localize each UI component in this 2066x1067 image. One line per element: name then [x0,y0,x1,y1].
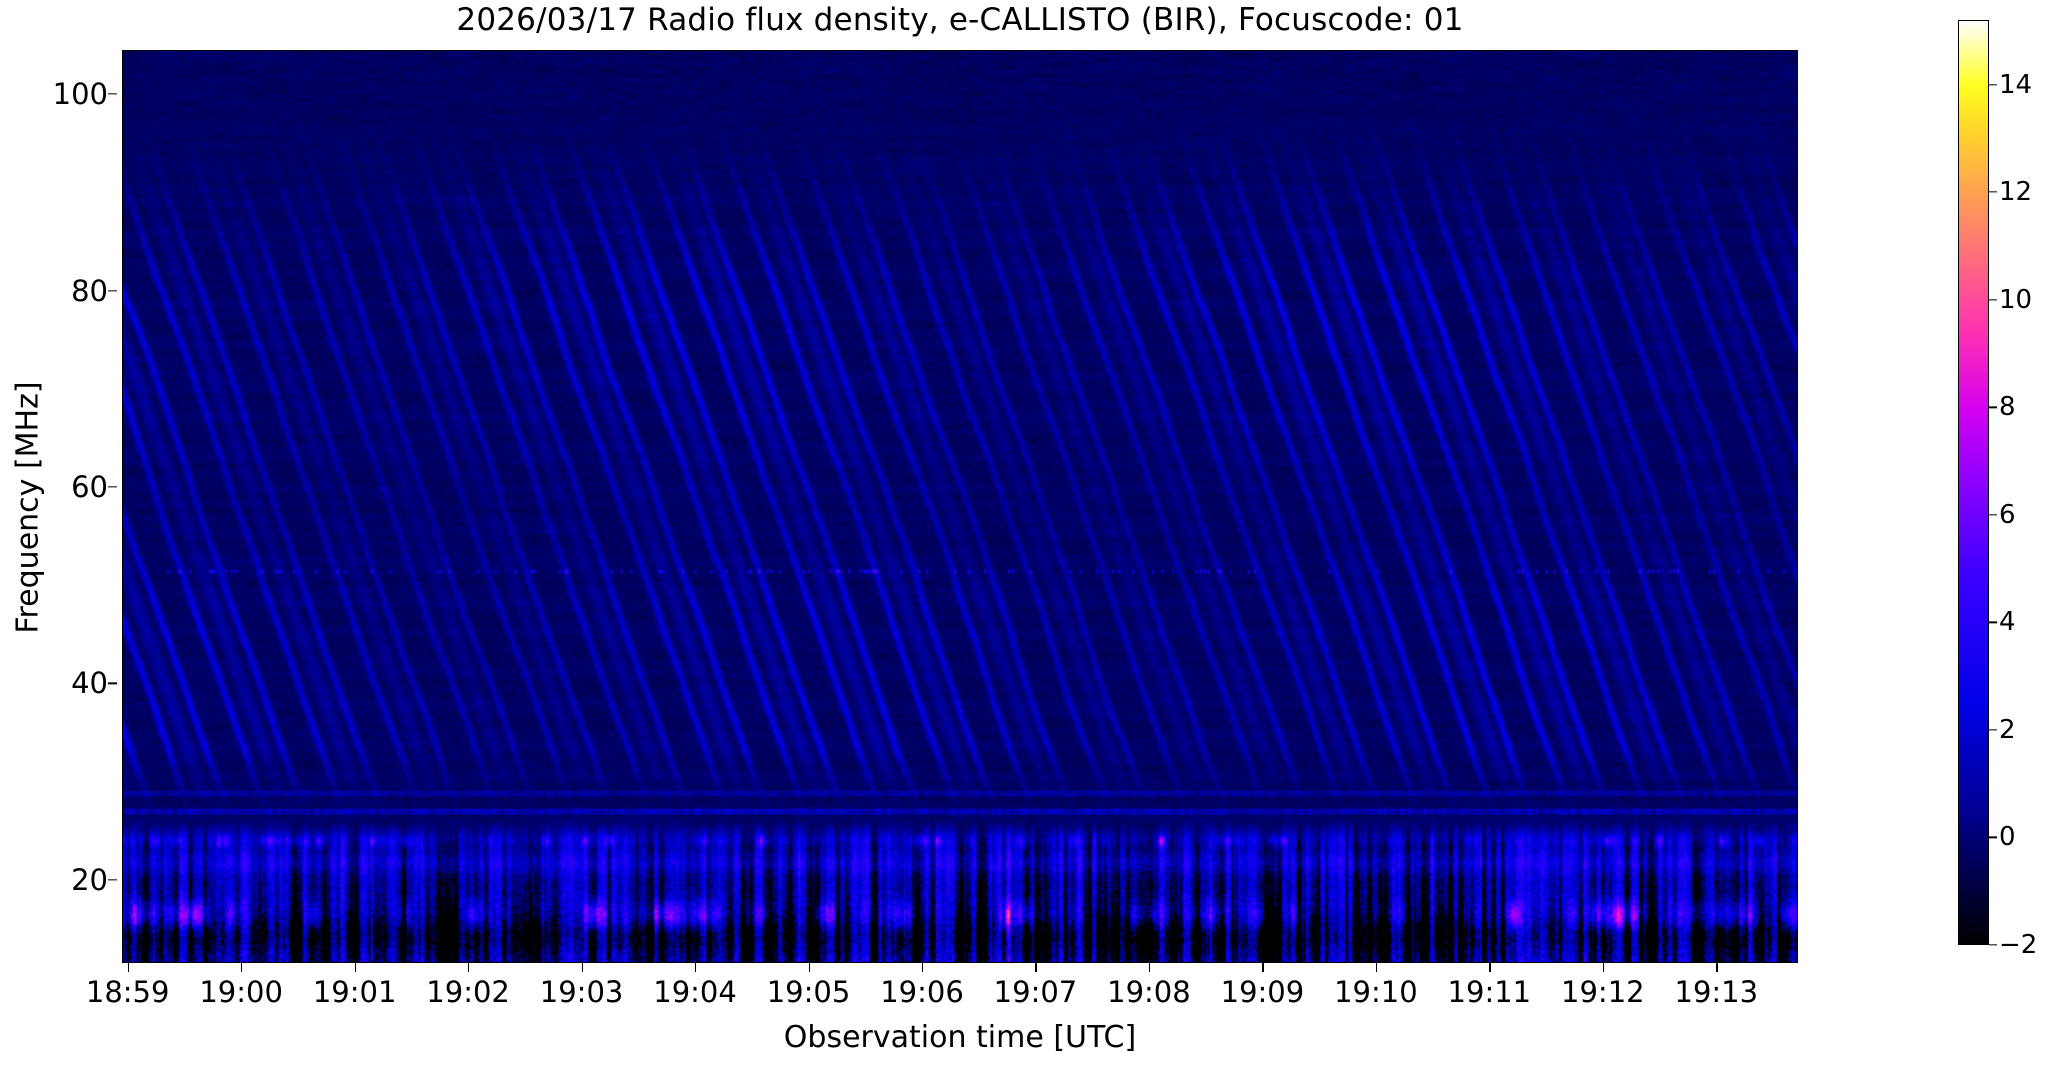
x-tick-mark [809,963,810,972]
colorbar-tick-mark [1989,729,1997,730]
x-tick-mark [1149,963,1150,972]
x-tick-mark [355,963,356,972]
x-tick-mark [1716,963,1717,972]
y-tick-mark [108,879,117,880]
x-tick-label: 19:11 [1448,975,1532,1009]
colorbar-tick-label: 2 [1999,715,2016,745]
colorbar-tick-mark [1989,837,1997,838]
colorbar-tick-label: 10 [1999,285,2032,315]
y-tick-label: 40 [71,666,108,700]
x-tick-label: 19:09 [1221,975,1305,1009]
colorbar-tick-label: 4 [1999,607,2016,637]
x-tick-mark [1489,963,1490,972]
x-tick-mark [241,963,242,972]
x-tick-mark [468,963,469,972]
spectrogram-plot-area[interactable] [122,50,1798,963]
y-tick-mark [108,486,117,487]
x-tick-label: 19:13 [1675,975,1759,1009]
y-tick-label: 60 [71,470,108,504]
colorbar-tick-label: 8 [1999,392,2016,422]
x-tick-label: 19:05 [767,975,851,1009]
x-tick-mark [582,963,583,972]
colorbar-tick-label: 6 [1999,500,2016,530]
x-tick-mark [922,963,923,972]
colorbar-tick-mark [1989,84,1997,85]
y-tick-label: 100 [53,77,108,111]
x-tick-label: 19:12 [1561,975,1645,1009]
x-tick-mark [1035,963,1036,972]
x-tick-label: 19:08 [1107,975,1191,1009]
colorbar-tick-mark [1989,514,1997,515]
colorbar-tick-label: −2 [1999,930,2037,960]
x-axis-label: Observation time [UTC] [122,1020,1798,1055]
page-title: 2026/03/17 Radio flux density, e-CALLIST… [122,2,1798,38]
spectrogram-canvas [123,51,1797,962]
x-tick-mark [1603,963,1604,972]
x-tick-label: 19:04 [653,975,737,1009]
y-tick-label: 20 [71,863,108,897]
spectrogram-figure: 2026/03/17 Radio flux density, e-CALLIST… [0,0,2066,1067]
colorbar-tick-mark [1989,407,1997,408]
x-tick-label: 18:59 [86,975,170,1009]
x-tick-label: 19:02 [426,975,510,1009]
x-tick-mark [1376,963,1377,972]
y-tick-mark [108,683,117,684]
x-tick-label: 19:00 [199,975,283,1009]
x-tick-mark [1262,963,1263,972]
colorbar-tick-mark [1989,299,1997,300]
colorbar-tick-label: 12 [1999,177,2032,207]
y-tick-mark [108,94,117,95]
x-tick-label: 19:10 [1334,975,1418,1009]
colorbar[interactable] [1958,20,1989,945]
y-axis-label: Frequency [MHz] [11,298,46,718]
x-tick-mark [695,963,696,972]
colorbar-tick-label: 0 [1999,822,2016,852]
y-tick-label: 80 [71,274,108,308]
x-tick-mark [128,963,129,972]
x-tick-label: 19:03 [540,975,624,1009]
x-tick-label: 19:06 [880,975,964,1009]
colorbar-tick-label: 14 [1999,70,2032,100]
colorbar-tick-mark [1989,622,1997,623]
colorbar-tick-mark [1989,191,1997,192]
y-tick-mark [108,290,117,291]
colorbar-gradient [1959,21,1988,944]
x-tick-label: 19:01 [313,975,397,1009]
colorbar-tick-mark [1989,944,1997,945]
x-tick-label: 19:07 [994,975,1078,1009]
